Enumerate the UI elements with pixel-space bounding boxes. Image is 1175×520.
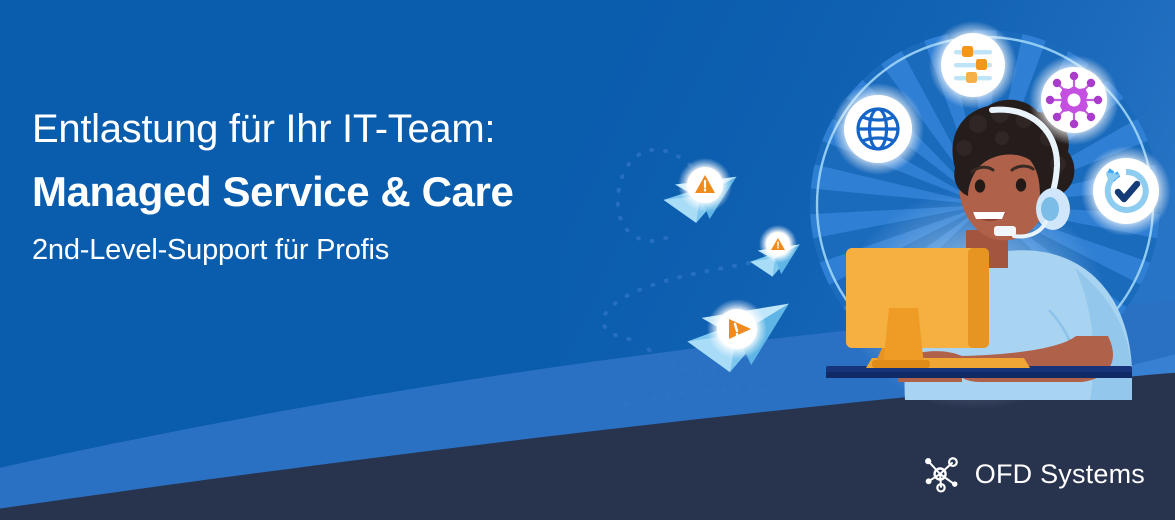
dotted-trail-4 xyxy=(626,390,772,404)
agent-eye-left xyxy=(975,179,985,192)
page-title: Managed Service & Care xyxy=(32,167,632,217)
brand-logo[interactable]: OFD Systems xyxy=(919,452,1145,496)
logo-text: OFD Systems xyxy=(975,459,1145,490)
marketing-banner: Entlastung für Ihr IT-Team: Managed Serv… xyxy=(0,0,1175,520)
globe-badge xyxy=(832,83,924,175)
gear-network-badge xyxy=(1029,55,1119,145)
subtitle-text: 2nd-Level-Support für Profis xyxy=(32,233,632,268)
warning-triangle-badge xyxy=(759,225,797,263)
eyebrow-text: Entlastung für Ihr IT-Team: xyxy=(32,106,632,153)
gear-network-icon xyxy=(1046,72,1102,128)
warning-triangle-badge xyxy=(678,158,732,212)
network-nodes-icon xyxy=(919,452,963,496)
warning-play-badge xyxy=(707,299,767,359)
agent-eye-right xyxy=(1016,178,1026,191)
headline-block: Entlastung für Ihr IT-Team: Managed Serv… xyxy=(32,106,632,268)
sliders-icon xyxy=(954,46,992,83)
sliders-badge xyxy=(929,21,1017,109)
sync-check-badge xyxy=(1081,146,1171,236)
